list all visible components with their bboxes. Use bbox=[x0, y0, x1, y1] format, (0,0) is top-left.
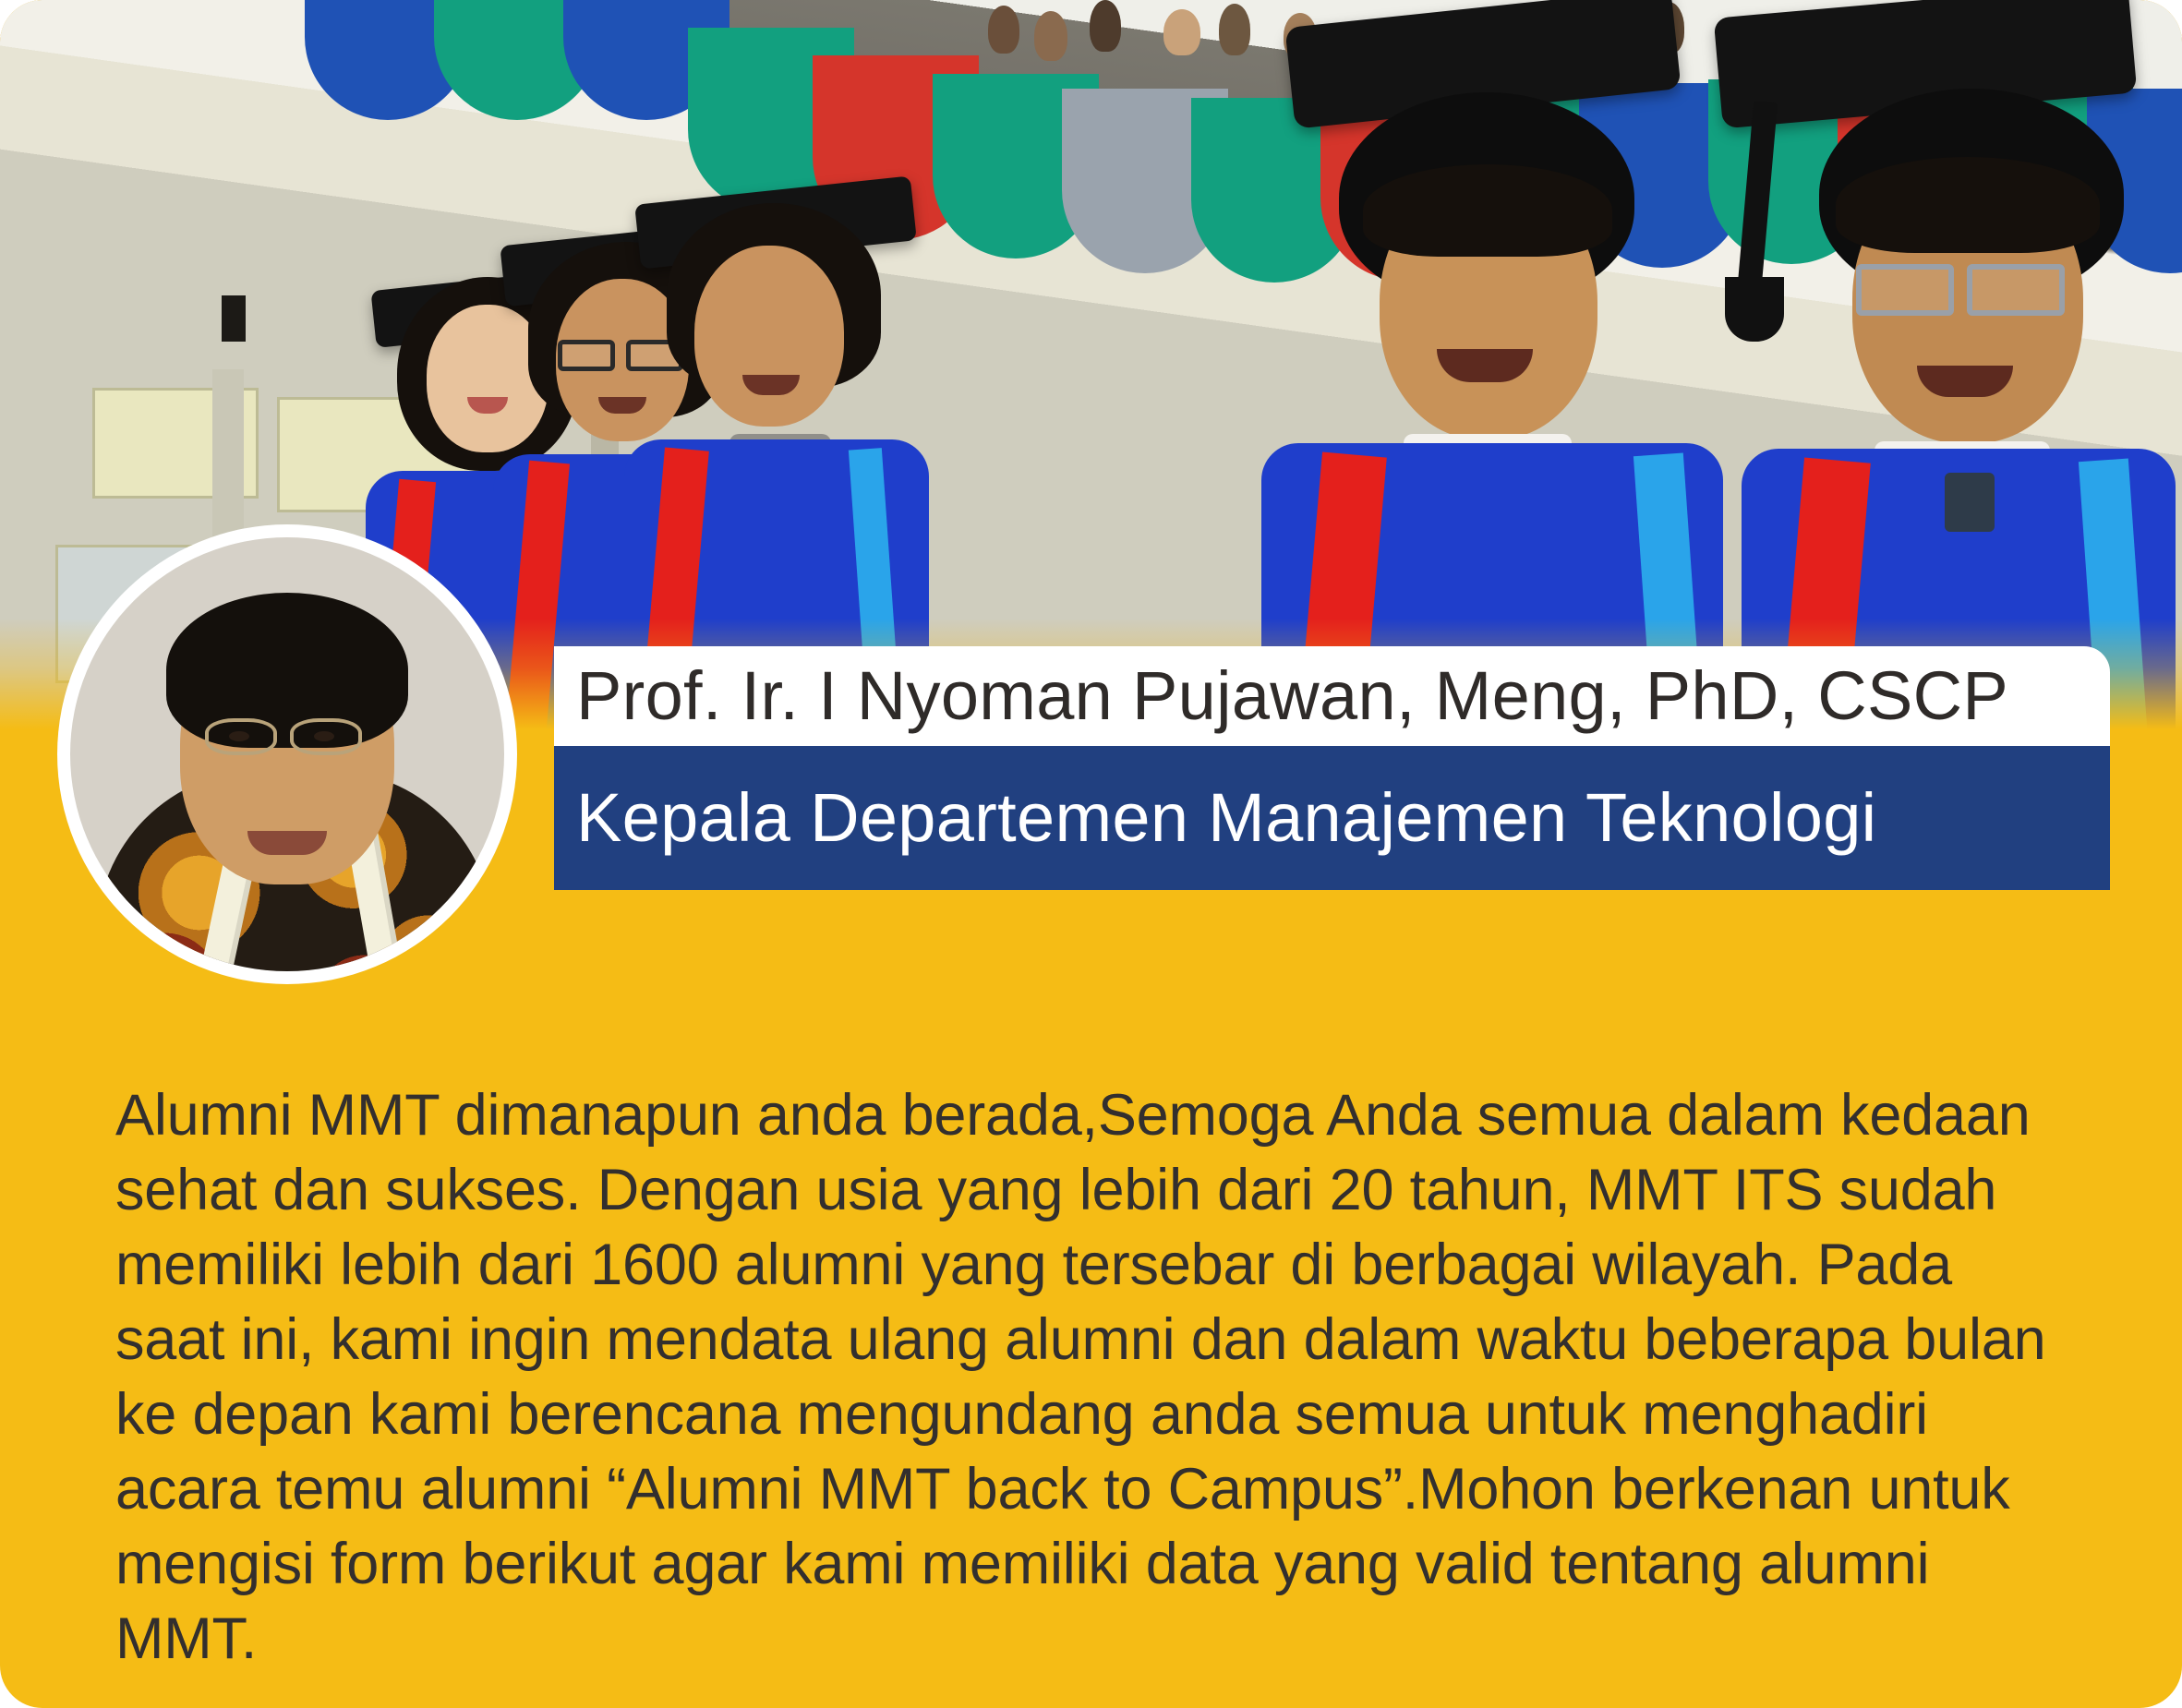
profile-name-banner: Prof. Ir. I Nyoman Pujawan, Meng, PhD, C… bbox=[554, 646, 2110, 746]
crowd-person bbox=[1090, 0, 1121, 52]
hair bbox=[166, 593, 408, 748]
crowd-person bbox=[1034, 11, 1067, 61]
announcement-message: Alumni MMT dimanapun anda berada,Semoga … bbox=[115, 1078, 2059, 1677]
mouth bbox=[247, 831, 327, 855]
profile-portrait-photo bbox=[70, 537, 504, 971]
crowd-person bbox=[1163, 9, 1200, 55]
eye-left bbox=[229, 731, 249, 741]
eye-right bbox=[314, 731, 334, 741]
avatar bbox=[57, 524, 517, 984]
profile-title-banner: Kepala Departemen Manajemen Teknologi bbox=[554, 746, 2110, 890]
necktie-knot bbox=[1945, 473, 1995, 532]
crowd-person bbox=[988, 6, 1019, 54]
crowd-person bbox=[1219, 4, 1250, 55]
alumni-announcement-card: Prof. Ir. I Nyoman Pujawan, Meng, PhD, C… bbox=[0, 0, 2182, 1708]
speaker-box bbox=[222, 295, 246, 342]
profile-title: Kepala Departemen Manajemen Teknologi bbox=[554, 784, 1876, 852]
profile-name: Prof. Ir. I Nyoman Pujawan, Meng, PhD, C… bbox=[554, 662, 2008, 730]
